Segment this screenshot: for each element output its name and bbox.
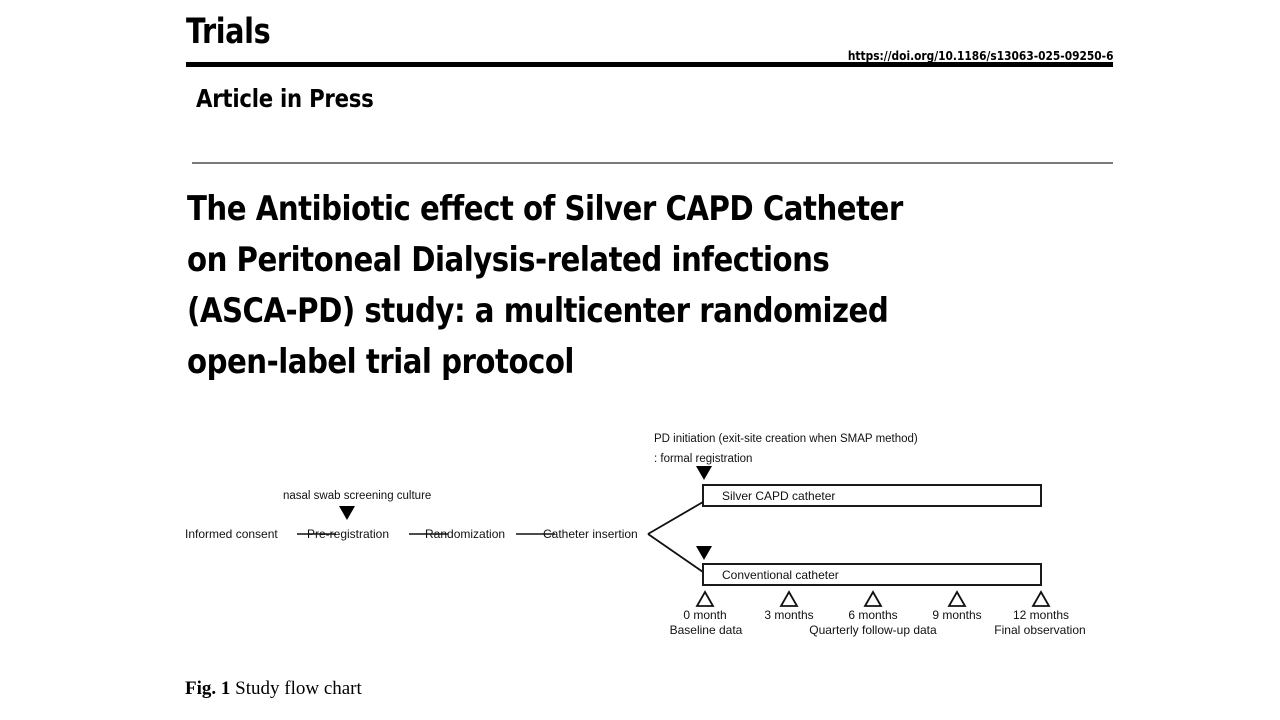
figure-caption-text: Study flow chart bbox=[235, 678, 362, 699]
annotation-pd-initiation: PD initiation (exit-site creation when S… bbox=[654, 433, 918, 445]
page-canvas: Trials https://doi.org/10.1186/s13063-02… bbox=[0, 0, 1280, 720]
timepoint-marker-icon-2 bbox=[865, 592, 881, 606]
figure-caption: Fig. 1 Study flow chart bbox=[185, 678, 362, 700]
page-title: The Antibiotic effect of Silver CAPD Cat… bbox=[187, 184, 944, 388]
timepoint-label-3: 9 months bbox=[932, 608, 981, 622]
doi-link[interactable]: https://doi.org/10.1186/s13063-025-09250… bbox=[847, 48, 1113, 63]
timepoint-label-2: 6 months bbox=[848, 608, 897, 622]
arm-label-conventional: Conventional catheter bbox=[722, 568, 839, 582]
down-arrow-icon-nasal-swab bbox=[339, 506, 355, 520]
branch-line-upper bbox=[648, 502, 703, 534]
article-status-label: Article in Press bbox=[196, 82, 374, 116]
timepoint-marker-icon-4 bbox=[1033, 592, 1049, 606]
arm-label-silver: Silver CAPD catheter bbox=[722, 489, 835, 503]
timepoint-marker-icon-1 bbox=[781, 592, 797, 606]
study-flow-chart-figure: PD initiation (exit-site creation when S… bbox=[0, 420, 1280, 650]
down-arrow-icon-conventional bbox=[696, 546, 712, 560]
flow-step-informed-consent: Informed consent bbox=[185, 527, 278, 541]
timepoint-note-final: Final observation bbox=[994, 623, 1085, 637]
flow-step-catheter-insertion: Catheter insertion bbox=[543, 527, 638, 541]
timepoint-marker-icon-0 bbox=[697, 592, 713, 606]
timepoint-note-quarterly: Quarterly follow-up data bbox=[809, 623, 937, 637]
branch-line-lower bbox=[648, 534, 703, 572]
journal-header: Trials https://doi.org/10.1186/s13063-02… bbox=[186, 10, 1113, 54]
timepoint-label-4: 12 months bbox=[1013, 608, 1069, 622]
header-rule-thick bbox=[186, 62, 1113, 67]
timepoint-marker-icon-3 bbox=[949, 592, 965, 606]
flow-chart-svg: PD initiation (exit-site creation when S… bbox=[0, 420, 1280, 650]
flow-step-randomization: Randomization bbox=[425, 527, 505, 541]
annotation-formal-registration: : formal registration bbox=[654, 453, 752, 465]
timepoint-label-1: 3 months bbox=[764, 608, 813, 622]
flow-step-pre-registration: Pre-registration bbox=[307, 527, 389, 541]
figure-caption-label: Fig. 1 bbox=[185, 678, 230, 699]
journal-logo: Trials bbox=[186, 10, 270, 54]
header-rule-thin bbox=[192, 162, 1113, 164]
down-arrow-icon-pd-initiation bbox=[696, 466, 712, 480]
timepoint-note-baseline: Baseline data bbox=[670, 623, 743, 637]
annotation-nasal-swab: nasal swab screening culture bbox=[283, 490, 431, 502]
timepoint-label-0: 0 month bbox=[683, 608, 726, 622]
